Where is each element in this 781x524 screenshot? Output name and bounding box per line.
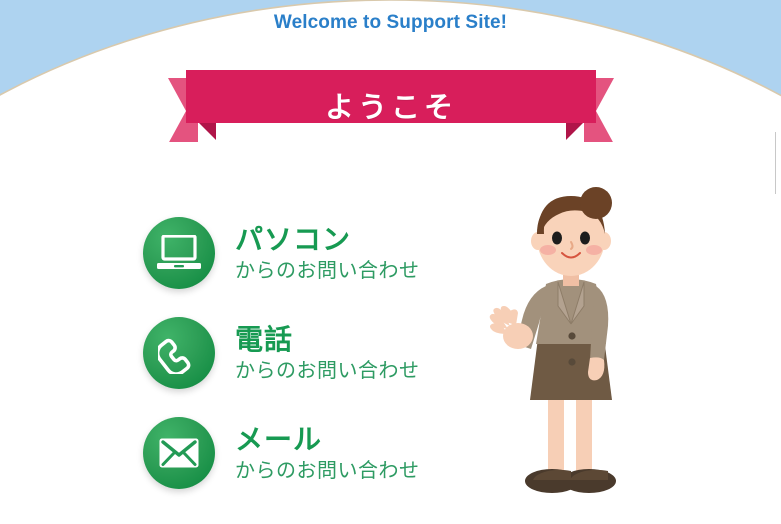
contact-text-mail: メール からのお問い合わせ bbox=[235, 426, 420, 481]
contact-title: パソコン bbox=[235, 226, 420, 254]
contact-row-phone[interactable]: 電話 からのお問い合わせ bbox=[143, 303, 483, 403]
contact-subtitle: からのお問い合わせ bbox=[235, 361, 420, 381]
welcome-ribbon: ようこそ bbox=[168, 70, 614, 142]
page-title: Welcome to Support Site! bbox=[0, 12, 781, 34]
contact-title: 電話 bbox=[235, 326, 420, 354]
contact-text-pc: パソコン からのお問い合わせ bbox=[235, 226, 420, 281]
contact-title: メール bbox=[235, 426, 420, 454]
envelope-icon bbox=[143, 417, 215, 489]
contact-subtitle: からのお問い合わせ bbox=[235, 261, 420, 281]
contact-method-list: パソコン からのお問い合わせ 電話 からのお問い合わせ bbox=[143, 203, 483, 503]
contact-subtitle: からのお問い合わせ bbox=[235, 461, 420, 481]
phone-icon bbox=[143, 317, 215, 389]
contact-text-phone: 電話 からのお問い合わせ bbox=[235, 326, 420, 381]
laptop-icon bbox=[143, 217, 215, 289]
page-edge-rule bbox=[775, 132, 776, 194]
contact-row-mail[interactable]: メール からのお問い合わせ bbox=[143, 403, 483, 503]
contact-row-pc[interactable]: パソコン からのお問い合わせ bbox=[143, 203, 483, 303]
support-site-banner: Welcome to Support Site! ようこそ bbox=[0, 0, 781, 524]
waving-businesswoman-illustration bbox=[486, 186, 656, 508]
ribbon-label: ようこそ bbox=[168, 84, 614, 126]
